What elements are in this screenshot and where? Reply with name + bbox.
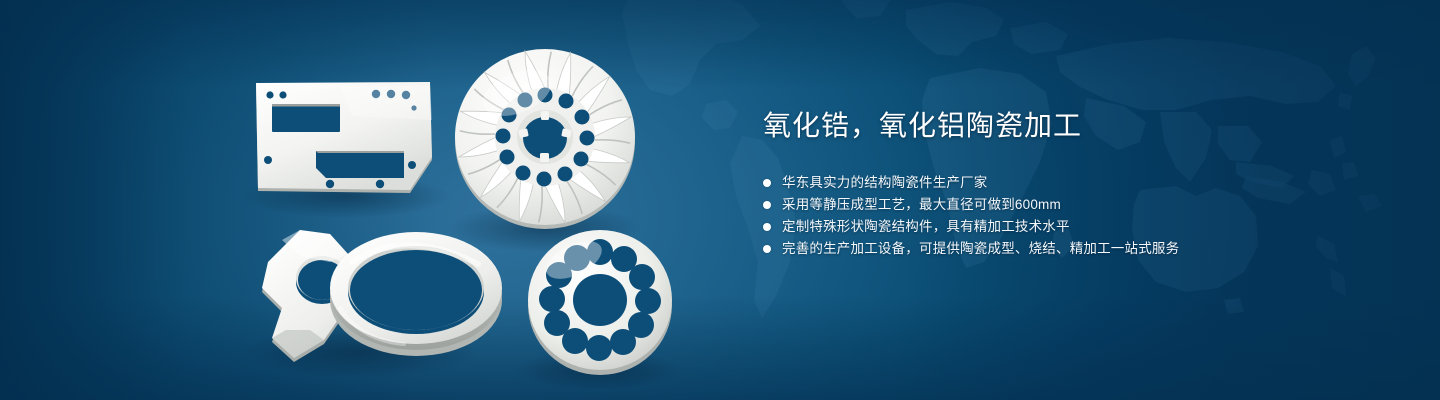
list-item: 华东具实力的结构陶瓷件生产厂家 [763,172,1383,194]
product-image-group [0,0,760,400]
bullet-dot-icon [763,223,771,231]
list-item-label: 定制特殊形状陶瓷结构件，具有精加工技术水平 [782,216,1070,238]
list-item-label: 华东具实力的结构陶瓷件生产厂家 [782,172,988,194]
ceramic-perforated-disc-part [528,230,672,375]
list-item: 采用等静压成型工艺，最大直径可做到600mm [763,194,1383,216]
list-item-label: 采用等静压成型工艺，最大直径可做到600mm [782,194,1061,216]
page-title: 氧化锆，氧化铝陶瓷加工 [763,108,1383,144]
ceramic-plate-part [256,82,432,193]
ceramic-ring-part [330,232,502,356]
banner-copy: 氧化锆，氧化铝陶瓷加工 华东具实力的结构陶瓷件生产厂家 采用等静压成型工艺，最大… [763,108,1383,260]
ceramic-impeller-part [455,49,635,229]
bullet-dot-icon [763,201,771,209]
list-item-label: 完善的生产加工设备，可提供陶瓷成型、烧结、精加工一站式服务 [782,238,1179,260]
list-item: 完善的生产加工设备，可提供陶瓷成型、烧结、精加工一站式服务 [763,238,1383,260]
bullet-dot-icon [763,179,771,187]
bullet-dot-icon [763,245,771,253]
list-item: 定制特殊形状陶瓷结构件，具有精加工技术水平 [763,216,1383,238]
promo-banner: 氧化锆，氧化铝陶瓷加工 华东具实力的结构陶瓷件生产厂家 采用等静压成型工艺，最大… [0,0,1440,400]
feature-list: 华东具实力的结构陶瓷件生产厂家 采用等静压成型工艺，最大直径可做到600mm 定… [763,172,1383,260]
